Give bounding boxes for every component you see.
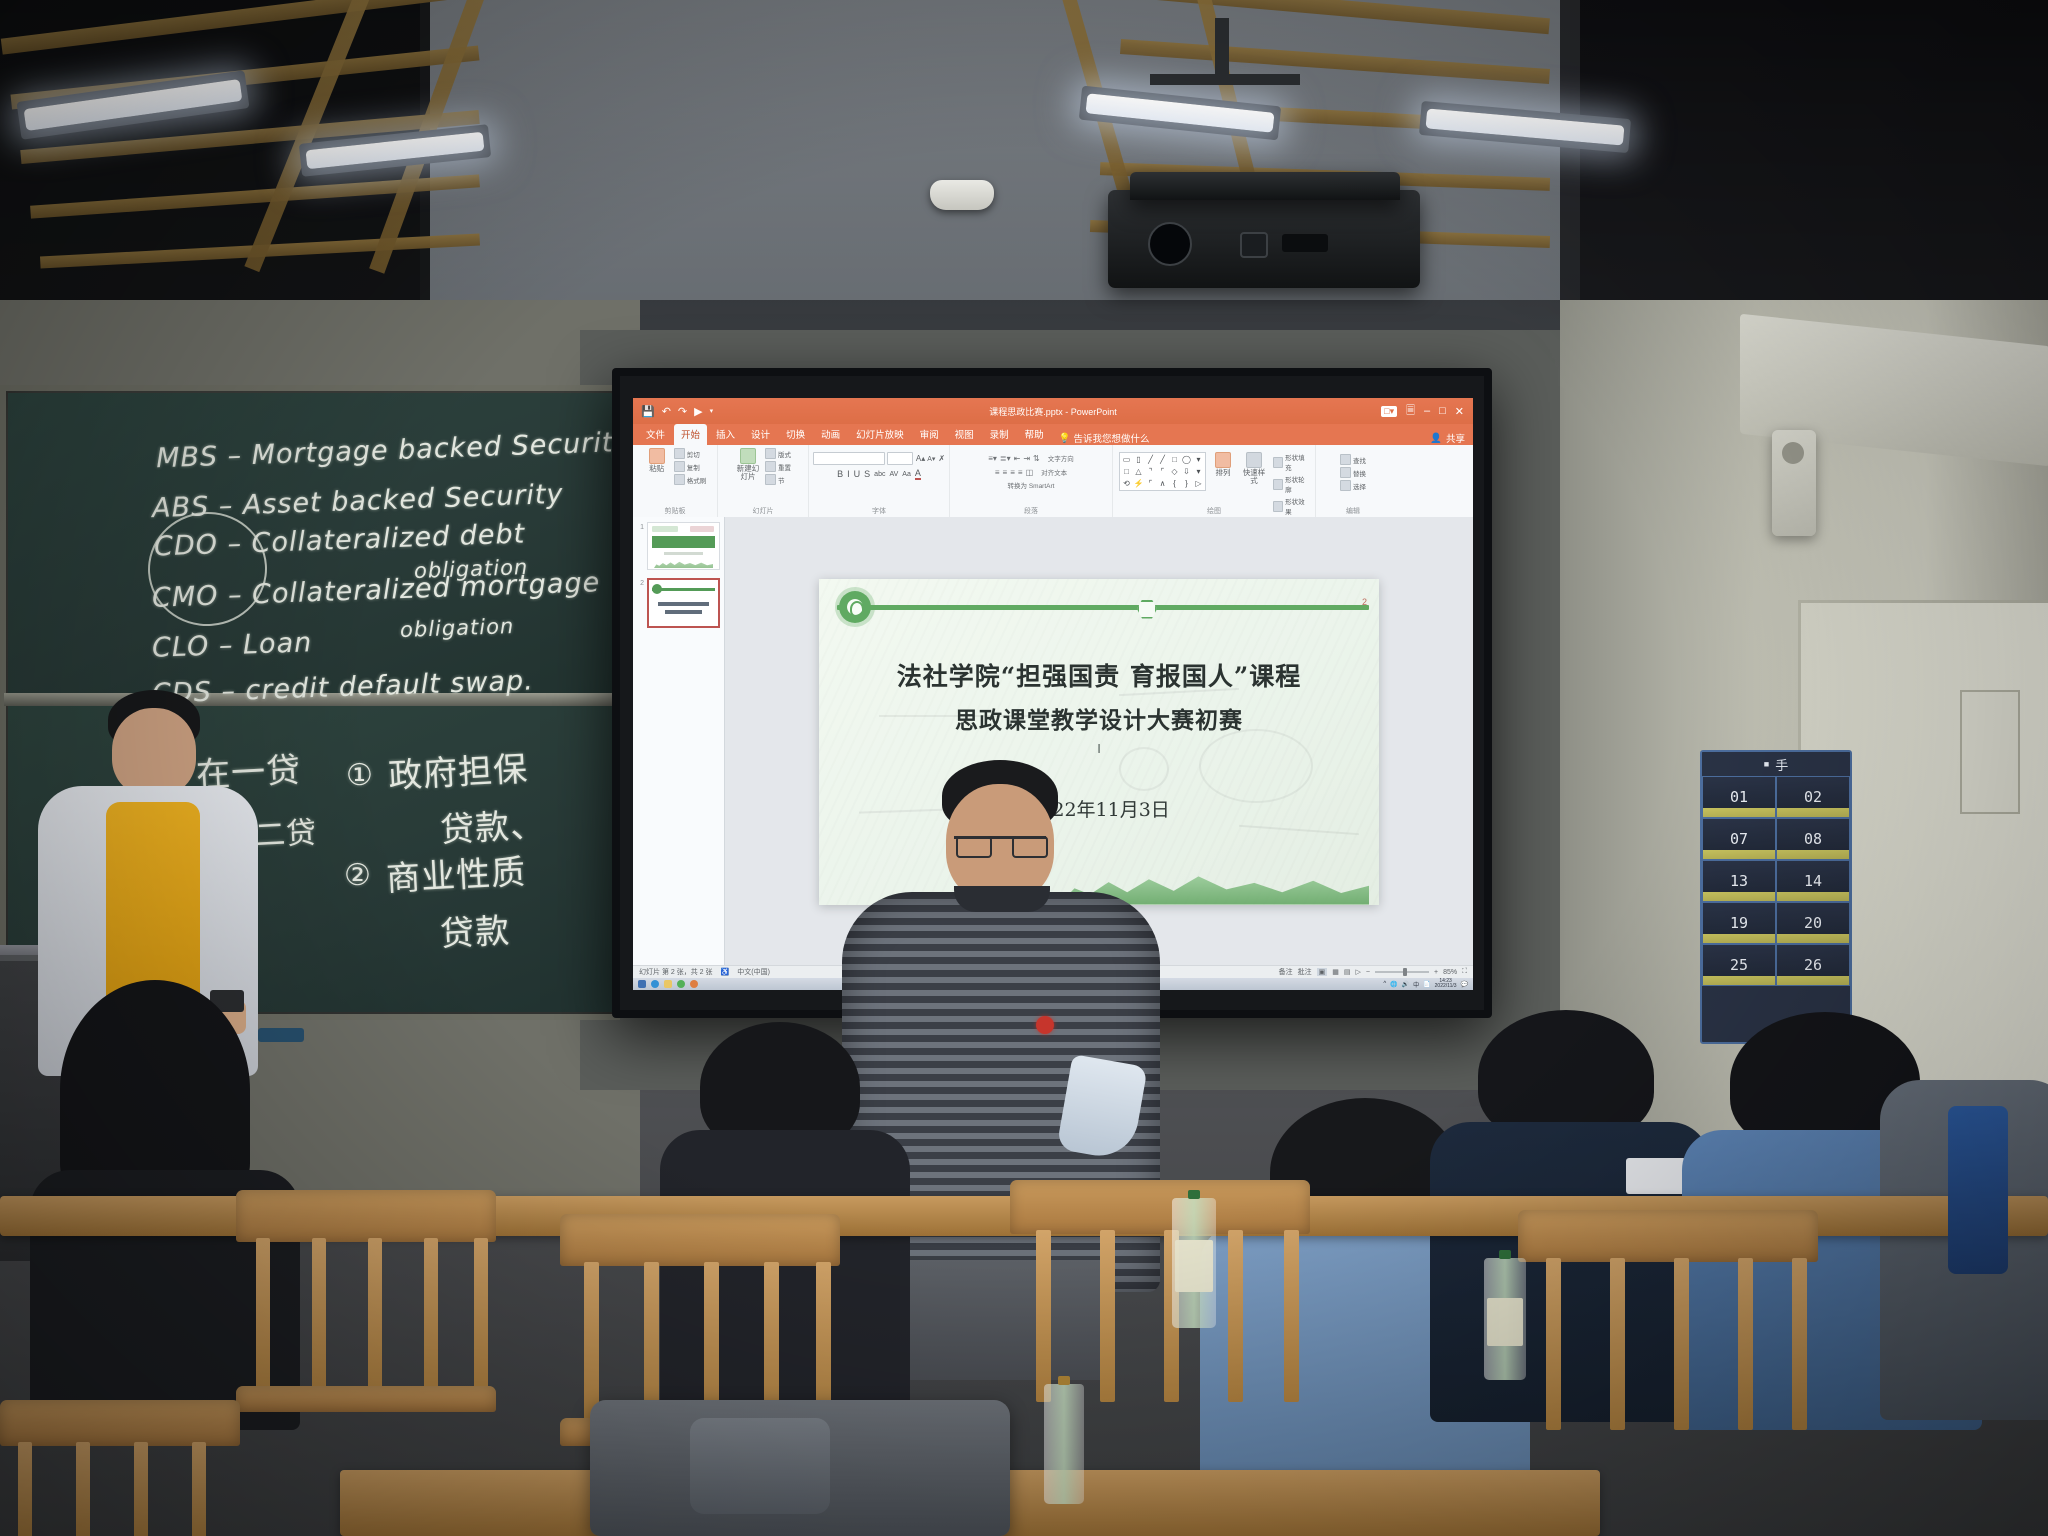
shape-diamond-icon[interactable]: ◇ xyxy=(1169,466,1180,477)
browser-icon[interactable] xyxy=(690,980,698,988)
phone-on-rail xyxy=(258,1028,304,1042)
normal-view-icon[interactable]: ▣ xyxy=(1317,968,1328,976)
format-painter-icon xyxy=(674,474,685,485)
tumbler xyxy=(1948,1106,2008,1274)
edge-icon[interactable] xyxy=(651,980,659,988)
indent-button[interactable]: ⇥ xyxy=(1023,454,1030,463)
accessibility-icon[interactable]: ♿ xyxy=(721,968,730,976)
layout-icon xyxy=(765,448,776,459)
shape-caret-icon[interactable]: ∧ xyxy=(1157,478,1168,489)
group-label-editing: 编辑 xyxy=(1316,506,1390,516)
zoom-in-button[interactable]: + xyxy=(1434,969,1438,976)
reset-icon xyxy=(765,461,776,472)
chevron-up-icon[interactable]: ^ xyxy=(1383,981,1386,987)
bottle-label xyxy=(1175,1240,1213,1292)
glasses-lens-left xyxy=(956,836,992,858)
bullets-button[interactable]: ≡▾ xyxy=(988,454,997,463)
arrange-icon xyxy=(1215,452,1231,468)
smoke-detector xyxy=(930,180,994,210)
blackboard-cn-item2: 商业性质 xyxy=(385,844,527,900)
shape-brace-right-icon[interactable]: } xyxy=(1181,478,1192,489)
arrange-button[interactable]: 排列 xyxy=(1211,452,1235,477)
shape-arrowdown-icon[interactable]: ⇩ xyxy=(1181,466,1192,477)
backpack-pocket xyxy=(690,1418,830,1514)
shape-outline-button[interactable]: 形状轮廓 xyxy=(1273,474,1309,494)
font-name-box[interactable] xyxy=(813,452,885,465)
bottle-cap xyxy=(1188,1190,1200,1199)
reset-button[interactable]: 重置 xyxy=(765,461,791,472)
tab-slideshow[interactable]: 幻灯片放映 xyxy=(849,424,911,445)
quick-styles-button[interactable]: 快速样式 xyxy=(1240,452,1268,486)
shape-expand-icon[interactable]: ▷ xyxy=(1193,478,1204,489)
fit-to-window-icon[interactable]: ⛶ xyxy=(1462,968,1467,976)
locker-cell[interactable]: 19 xyxy=(1702,902,1776,944)
replace-icon xyxy=(1340,467,1351,478)
paste-icon xyxy=(649,448,665,464)
justify-button[interactable]: ≡ xyxy=(1018,468,1023,477)
thumbnail-preview xyxy=(647,578,720,628)
locker-cell[interactable]: 01 xyxy=(1702,776,1776,818)
chair xyxy=(1518,1210,1818,1460)
section-icon xyxy=(765,474,776,485)
locker-cell[interactable]: 26 xyxy=(1776,944,1850,986)
person-icon: 👤 xyxy=(1430,433,1442,444)
shape-arrow-icon[interactable]: ╱ xyxy=(1157,454,1168,465)
bottle-cap xyxy=(1058,1376,1070,1385)
notes-button[interactable]: 备注 xyxy=(1279,967,1293,977)
columns-button[interactable]: ◫ xyxy=(1026,468,1034,477)
comments-button[interactable]: 批注 xyxy=(1298,967,1312,977)
bottle-label xyxy=(1487,1298,1523,1346)
blackboard-cn-item1b: 贷款、 xyxy=(439,797,546,851)
collar xyxy=(954,886,1050,912)
shape-more-icon[interactable]: ▾ xyxy=(1193,454,1204,465)
clock-date: 2022/11/3 xyxy=(1435,984,1457,989)
hair xyxy=(60,980,250,1200)
gear-icon xyxy=(652,584,662,594)
tab-help[interactable]: 帮助 xyxy=(1018,424,1051,445)
group-label-font: 字体 xyxy=(809,506,949,516)
shape-bend2-icon[interactable]: ⌜ xyxy=(1157,466,1168,477)
align-left-button[interactable]: ≡ xyxy=(995,468,1000,477)
strikethrough-button[interactable]: abc xyxy=(874,471,885,478)
wall-speaker xyxy=(1772,430,1816,536)
clear-formatting-icon[interactable]: ✗ xyxy=(938,454,945,463)
thumbnail-title-band xyxy=(652,536,715,548)
locker-cell[interactable]: 14 xyxy=(1776,860,1850,902)
classroom-scene: MBS – Mortgage backed Security ABS – Ass… xyxy=(0,0,2048,1536)
windows-start-icon[interactable] xyxy=(638,980,646,988)
shadow-button[interactable]: S xyxy=(864,469,870,479)
ribbon-group-clipboard: 粘贴 剪切 复制 格式刷 xyxy=(633,445,718,517)
tab-record[interactable]: 录制 xyxy=(983,424,1016,445)
university-logo-right xyxy=(690,526,714,532)
locker-cell[interactable]: 02 xyxy=(1776,776,1850,818)
shapes-gallery[interactable]: ▭ ▯ ╱ ╱ □ ◯ ▾ □ △ ⌝ ⌜ ◇ ⇩ ▾ ⟲ xyxy=(1119,452,1206,491)
decrease-font-icon[interactable]: A▾ xyxy=(927,455,935,463)
ime-icon[interactable]: 中 xyxy=(1413,980,1419,989)
find-button[interactable]: 查找 xyxy=(1340,454,1366,465)
tab-view[interactable]: 视图 xyxy=(948,424,981,445)
char-spacing-button[interactable]: AV xyxy=(889,471,898,478)
format-painter-button[interactable]: 格式刷 xyxy=(674,474,707,485)
locker-cell[interactable]: 20 xyxy=(1776,902,1850,944)
underline-button[interactable]: U xyxy=(854,469,861,479)
shape-square-icon[interactable]: □ xyxy=(1169,454,1180,465)
chair xyxy=(236,1190,496,1420)
tab-insert[interactable]: 插入 xyxy=(709,424,742,445)
shape-fill-button[interactable]: 形状填充 xyxy=(1273,452,1309,472)
locker-grid: 01 02 07 08 13 14 19 20 25 26 xyxy=(1702,776,1850,986)
slide-title-line1[interactable]: 法社学院“担强国责 育报国人”课程 xyxy=(819,657,1379,693)
scissors-icon xyxy=(674,448,685,459)
tab-home[interactable]: 开始 xyxy=(674,424,707,445)
paste-button[interactable]: 粘贴 xyxy=(644,448,670,473)
blackboard-cn-marker-1: ① xyxy=(346,758,374,793)
notes-icon[interactable]: 📄 xyxy=(1423,981,1430,988)
new-slide-icon xyxy=(740,448,756,464)
zoom-level: 85% xyxy=(1443,969,1457,976)
blackboard-line-clo: CLO – Loan xyxy=(152,627,313,664)
select-button[interactable]: 选择 xyxy=(1340,480,1366,491)
blackboard-cn-item2b: 贷款 xyxy=(439,903,511,956)
head xyxy=(112,708,196,796)
thumbnail-subtitle xyxy=(664,552,703,555)
phone-icon: ■ xyxy=(1764,759,1769,769)
locker-cell[interactable]: 08 xyxy=(1776,818,1850,860)
search-icon xyxy=(1340,454,1351,465)
tell-me-box[interactable]: 💡 告诉我您想做什么 xyxy=(1059,431,1150,445)
text-direction-button[interactable]: 文字方向 xyxy=(1048,453,1074,463)
tab-transitions[interactable]: 切换 xyxy=(779,424,812,445)
shape-circle-icon[interactable]: ◯ xyxy=(1181,454,1192,465)
water-bottle xyxy=(1484,1258,1526,1380)
volume-icon[interactable]: 🔊 xyxy=(1402,981,1409,988)
zoom-out-button[interactable]: − xyxy=(1366,969,1370,976)
font-size-box[interactable] xyxy=(887,452,913,465)
ribbon-group-editing: 查找 替换 选择 编辑 xyxy=(1316,445,1390,517)
bold-button[interactable]: B xyxy=(837,469,843,479)
blackboard-obligation-2: obligation xyxy=(400,614,515,642)
tab-animations[interactable]: 动画 xyxy=(814,424,847,445)
thumbnail-number: 2 xyxy=(637,578,644,587)
quick-styles-icon xyxy=(1246,452,1262,468)
slide-accent-bar xyxy=(837,605,1369,610)
locker-header-label: 手 xyxy=(1775,755,1788,774)
light-switch-panel[interactable] xyxy=(1960,690,2020,814)
language-indicator[interactable]: 中文(中国) xyxy=(737,967,770,977)
align-center-button[interactable]: ≡ xyxy=(1003,468,1008,477)
ribbon-group-font: A▴ A▾ ✗ B I U S abc AV Aa A 字体 xyxy=(809,445,950,517)
network-icon[interactable]: 🌐 xyxy=(1390,981,1397,988)
slide-page-number: 2 xyxy=(1362,597,1367,607)
water-bottle xyxy=(1172,1198,1216,1328)
projector-lens xyxy=(1148,222,1192,266)
water-bottle xyxy=(1044,1384,1084,1504)
locker-header: ■ 手 xyxy=(1702,752,1850,776)
blackboard-cn-item1: 政府担保 xyxy=(387,741,529,797)
select-icon xyxy=(1340,480,1351,491)
align-right-button[interactable]: ≡ xyxy=(1010,468,1015,477)
ribbon[interactable]: 粘贴 剪切 复制 格式刷 xyxy=(633,445,1473,518)
explorer-icon[interactable] xyxy=(664,980,672,988)
shape-scroll-icon[interactable]: ▾ xyxy=(1193,466,1204,477)
slide-thumbnail[interactable]: 1 xyxy=(637,522,720,570)
convert-to-smartart-button[interactable]: 转换为 SmartArt xyxy=(1008,480,1055,490)
tab-design[interactable]: 设计 xyxy=(744,424,777,445)
glasses-lens-right xyxy=(1012,836,1048,858)
numbering-button[interactable]: ≣▾ xyxy=(1000,454,1011,463)
align-text-button[interactable]: 对齐文本 xyxy=(1041,467,1067,477)
copy-icon xyxy=(674,461,685,472)
document-title: 课程思政比赛.pptx - PowerPoint xyxy=(633,405,1473,418)
thumbnail-skyline xyxy=(654,559,713,568)
lightbulb-icon: 💡 xyxy=(1059,433,1071,444)
thumbnail-number: 1 xyxy=(637,522,644,531)
university-logo-left xyxy=(652,526,678,532)
gear-icon xyxy=(839,591,871,623)
replace-button[interactable]: 替换 xyxy=(1340,467,1366,478)
slideshow-view-icon[interactable]: ▷ xyxy=(1356,968,1361,976)
wechat-icon[interactable] xyxy=(677,980,685,988)
system-tray[interactable]: ^ 🌐 🔊 中 📄 14:23 2022/11/3 💬 xyxy=(1383,979,1468,989)
chair xyxy=(0,1400,240,1536)
slide-thumbnail-pane[interactable]: 1 2 xyxy=(633,517,725,966)
slide-thumbnail[interactable]: 2 xyxy=(637,578,720,628)
shape-bend-icon[interactable]: ⌝ xyxy=(1145,466,1156,477)
line-spacing-button[interactable]: ⇅ xyxy=(1033,454,1040,463)
shape-triangle-icon[interactable]: △ xyxy=(1133,466,1144,477)
slide-title-line2[interactable]: 思政课堂教学设计大赛初赛 xyxy=(819,701,1379,735)
cut-button[interactable]: 剪切 xyxy=(674,448,707,459)
group-label-paragraph: 段落 xyxy=(950,506,1112,516)
locker-cell[interactable]: 13 xyxy=(1702,860,1776,902)
shape-curve-icon[interactable]: ⟲ xyxy=(1121,478,1132,489)
ribbon-tabs[interactable]: 文件 开始 插入 设计 切换 动画 幻灯片放映 审阅 视图 录制 帮助 💡 告诉… xyxy=(633,424,1473,445)
tab-file[interactable]: 文件 xyxy=(639,424,672,445)
share-button[interactable]: 👤 共享 xyxy=(1430,431,1473,445)
party-badge xyxy=(1036,1016,1054,1034)
locker-cell[interactable]: 07 xyxy=(1702,818,1776,860)
thumbnail-line-2 xyxy=(665,610,702,614)
slide-indicator: 幻灯片 第 2 张，共 2 张 xyxy=(639,967,713,977)
ribbon-group-drawing: ▭ ▯ ╱ ╱ □ ◯ ▾ □ △ ⌝ ⌜ ◇ ⇩ ▾ ⟲ xyxy=(1113,445,1316,517)
reading-view-icon[interactable]: ▤ xyxy=(1344,968,1351,976)
logo-patch xyxy=(1626,1158,1686,1194)
thumbnail-line-1 xyxy=(658,602,709,606)
layout-button[interactable]: 版式 xyxy=(765,448,791,459)
ribbon-group-paragraph: ≡▾ ≣▾ ⇤ ⇥ ⇅ 文字方向 ≡ ≡ ≡ ≡ ◫ 对齐文本 xyxy=(950,445,1113,517)
group-label-clipboard: 剪贴板 xyxy=(633,506,717,516)
zoom-slider[interactable] xyxy=(1375,971,1429,973)
slide-sorter-icon[interactable]: ▦ xyxy=(1332,968,1339,976)
group-label-slides: 幻灯片 xyxy=(718,506,808,516)
shape-brace-left-icon[interactable]: { xyxy=(1169,478,1180,489)
font-color-button[interactable]: A xyxy=(915,468,921,480)
shape-line-icon[interactable]: ╱ xyxy=(1145,454,1156,465)
bottle-cap xyxy=(1499,1250,1511,1259)
outdent-button[interactable]: ⇤ xyxy=(1014,454,1021,463)
shape-fill-icon xyxy=(1273,457,1283,468)
notification-icon[interactable]: 💬 xyxy=(1461,981,1468,988)
text-cursor: I xyxy=(819,741,1379,756)
section-button[interactable]: 节 xyxy=(765,474,791,485)
shape-flash-icon[interactable]: ⚡ xyxy=(1133,478,1144,489)
blackboard-cn-marker-2: ② xyxy=(344,858,372,893)
shape-rect2-icon[interactable]: □ xyxy=(1121,466,1132,477)
thumbnail-preview xyxy=(647,522,720,570)
backpack xyxy=(590,1400,1010,1536)
shape-outline-icon xyxy=(1273,479,1283,490)
tab-review[interactable]: 审阅 xyxy=(913,424,946,445)
phone-storage-locker[interactable]: ■ 手 01 02 07 08 13 14 19 20 25 26 xyxy=(1700,750,1852,1044)
new-slide-button[interactable]: 新建幻灯片 xyxy=(735,448,761,482)
group-label-drawing: 绘图 xyxy=(1113,506,1315,516)
powerpoint-title-bar: 💾 ↶ ↷ ▶ ▾ 课程思政比赛.pptx - PowerPoint □▾ 🗏 … xyxy=(633,398,1473,424)
increase-font-icon[interactable]: A▴ xyxy=(916,454,925,463)
change-case-button[interactable]: Aa xyxy=(902,471,911,478)
italic-button[interactable]: I xyxy=(847,469,850,479)
shape-rect-icon[interactable]: ▭ xyxy=(1121,454,1132,465)
shape-textbox-icon[interactable]: ▯ xyxy=(1133,454,1144,465)
shape-corner-icon[interactable]: ⌜ xyxy=(1145,478,1156,489)
taskbar-clock[interactable]: 14:23 2022/11/3 xyxy=(1435,979,1457,989)
locker-cell[interactable]: 25 xyxy=(1702,944,1776,986)
ribbon-group-slides: 新建幻灯片 版式 重置 节 xyxy=(718,445,809,517)
copy-button[interactable]: 复制 xyxy=(674,461,707,472)
